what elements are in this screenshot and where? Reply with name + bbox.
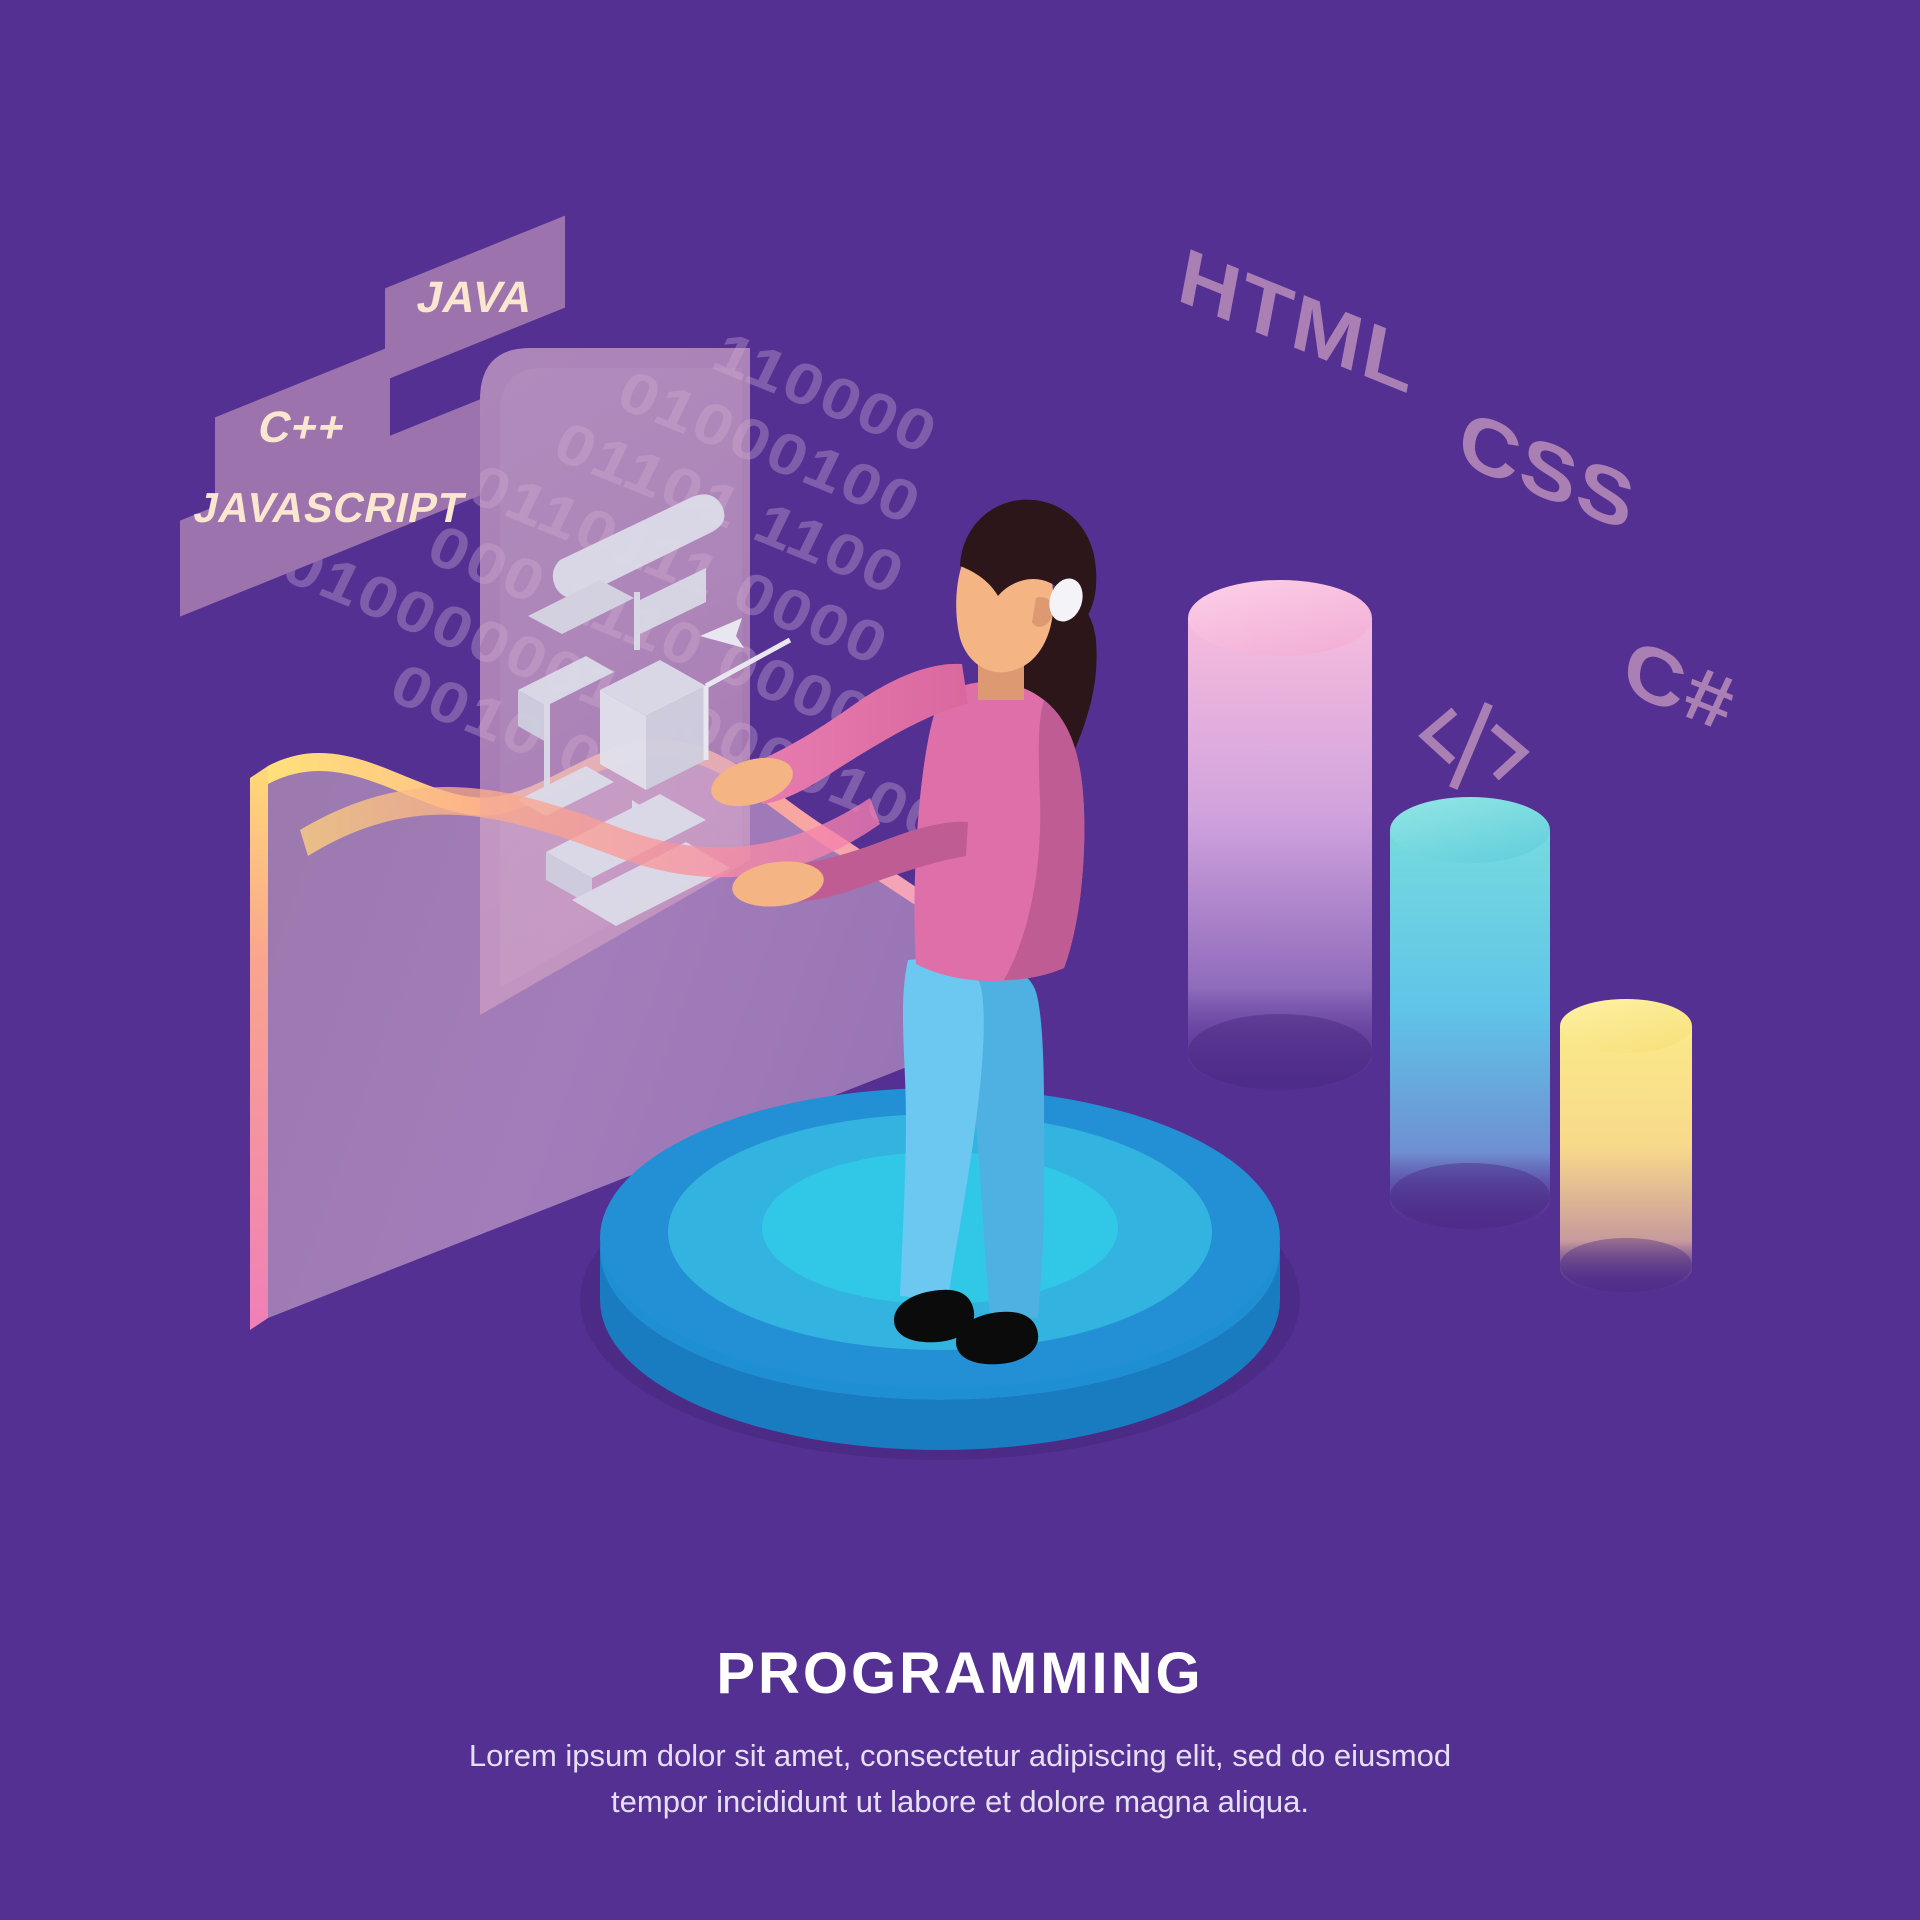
chart-bar-2 [1390,797,1550,1233]
page-title: PROGRAMMING [0,1640,1920,1707]
caption-block: PROGRAMMING Lorem ipsum dolor sit amet, … [0,1640,1920,1825]
illustration-canvas: 110000 01000100 01101 1100 0110111 0000 … [0,0,1920,1920]
page-subtitle: Lorem ipsum dolor sit amet, consectetur … [430,1733,1490,1825]
subtitle-line-2: tempor incididunt ut labore et dolore ma… [611,1784,1309,1819]
bar-chart-cylinders [0,0,1920,1920]
chart-bar-3 [1560,999,1692,1295]
chart-bar-1 [1188,580,1372,1093]
subtitle-line-1: Lorem ipsum dolor sit amet, consectetur … [469,1738,1451,1773]
